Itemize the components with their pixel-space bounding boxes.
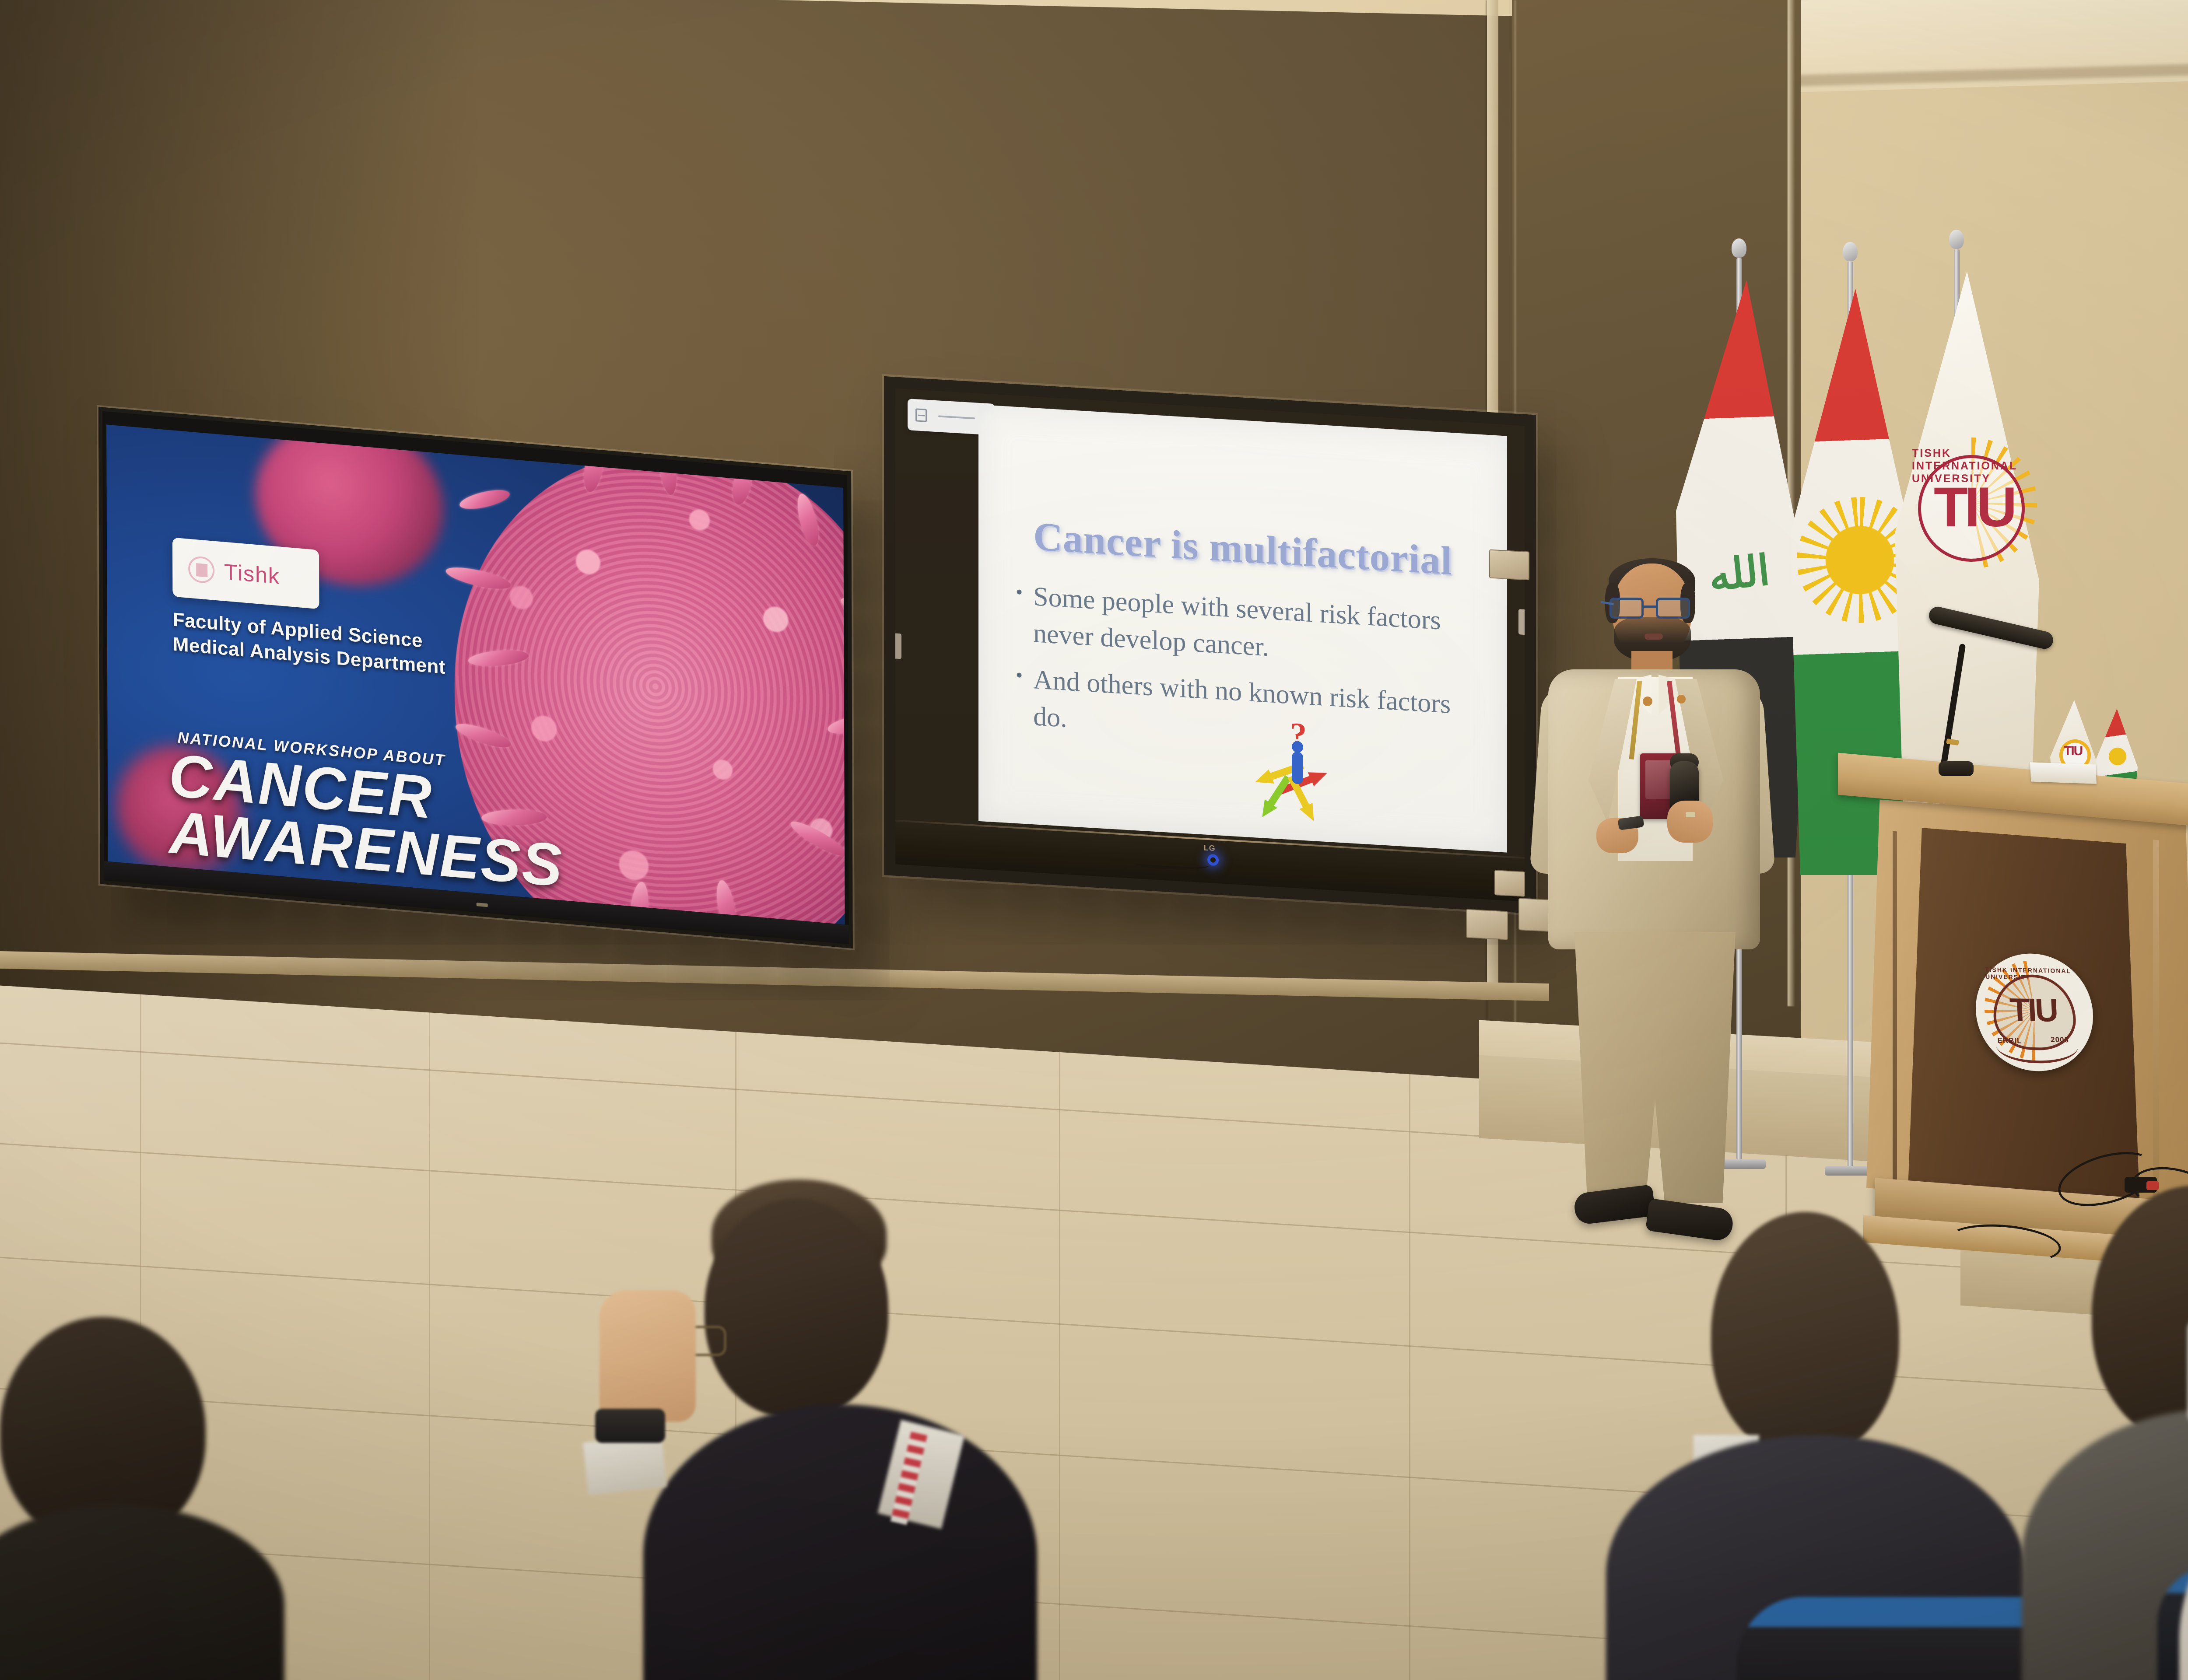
- desk-flag-kurdistan-sun-icon: [2105, 744, 2130, 769]
- interactive-whiteboard[interactable]: Cancer is multifactorial • Some people w…: [884, 376, 1536, 914]
- presenter-hand-right: [1667, 801, 1713, 843]
- lecture-hall-photo: Tishk Faculty of Applied Science Medical…: [0, 0, 2188, 1680]
- whiteboard-side-sensor-left: [895, 633, 901, 659]
- bullet-marker-icon: •: [1016, 577, 1023, 607]
- wall-outlet-plate: [1466, 909, 1508, 940]
- wall-outlet-plate: [1494, 870, 1525, 897]
- power-indicator-led: [1207, 854, 1219, 866]
- figure-body-icon: [1292, 751, 1303, 784]
- gooseneck-microphone-base: [1939, 761, 1974, 776]
- overlay-badge-line: [938, 415, 975, 419]
- tishk-logo-badge: Tishk: [172, 537, 319, 609]
- wall-mounted-tv[interactable]: Tishk Faculty of Applied Science Medical…: [98, 407, 853, 948]
- tiu-seal-city: ERBIL: [1997, 1036, 2022, 1046]
- projected-slide: Cancer is multifactorial • Some people w…: [978, 405, 1507, 853]
- slide-bullet-2: • And others with no known risk factors …: [1016, 661, 1481, 762]
- figure-head-icon: [1292, 741, 1303, 753]
- tishk-logo-icon: [188, 555, 214, 584]
- podium-edge-left: [1893, 831, 1897, 1204]
- tiu-monogram: TIU: [1934, 479, 2013, 535]
- slide-bullet-1-text: Some people with several risk factors ne…: [1033, 578, 1481, 678]
- presenter: [1523, 556, 1785, 1256]
- document-icon: [915, 408, 927, 422]
- flagpole-finial: [1732, 238, 1746, 258]
- tv-screen: Tishk Faculty of Applied Science Medical…: [106, 425, 845, 925]
- finger-ring: [1686, 812, 1695, 817]
- flagpole-finial: [1949, 230, 1964, 249]
- audience: [0, 1172, 2188, 1680]
- lapel-pin-icon: [1677, 695, 1686, 703]
- whiteboard-surface: Cancer is multifactorial • Some people w…: [895, 388, 1525, 902]
- bullet-marker-icon: •: [1016, 661, 1023, 690]
- presenter-trousers: [1574, 932, 1736, 1203]
- crossroads-decision-clipart: ?: [1250, 723, 1350, 843]
- tiu-seal-monogram: TIU: [2009, 994, 2058, 1027]
- tishk-logo-label: Tishk: [224, 559, 280, 589]
- tiu-seal-year: 2008: [2051, 1036, 2069, 1045]
- presenter-mouth: [1645, 633, 1663, 640]
- podium-edge-right: [2153, 840, 2159, 1207]
- flagpole-finial: [1843, 242, 1858, 261]
- desk-flag-tiu-monogram: TIU: [2064, 744, 2082, 759]
- tv-brand-mark-icon: [477, 903, 488, 907]
- lapel-pin-icon: [1643, 696, 1652, 706]
- slide-bullet-1: • Some people with several risk factors …: [1016, 577, 1481, 679]
- board-cable: [1134, 857, 1209, 871]
- tiu-seal: TISHK INTERNATIONAL UNIVERSITY TIU ERBIL…: [1973, 952, 2096, 1072]
- podium-papers: [2030, 762, 2097, 784]
- tiu-flag-emblem: TISHK INTERNATIONAL UNIVERSITY TIU: [1901, 437, 2041, 621]
- slide-title: Cancer is multifactorial: [978, 510, 1507, 588]
- eyeglasses-icon: [1607, 598, 1697, 619]
- board-brand-label: LG: [1204, 843, 1216, 853]
- smartwatch: [595, 1409, 665, 1443]
